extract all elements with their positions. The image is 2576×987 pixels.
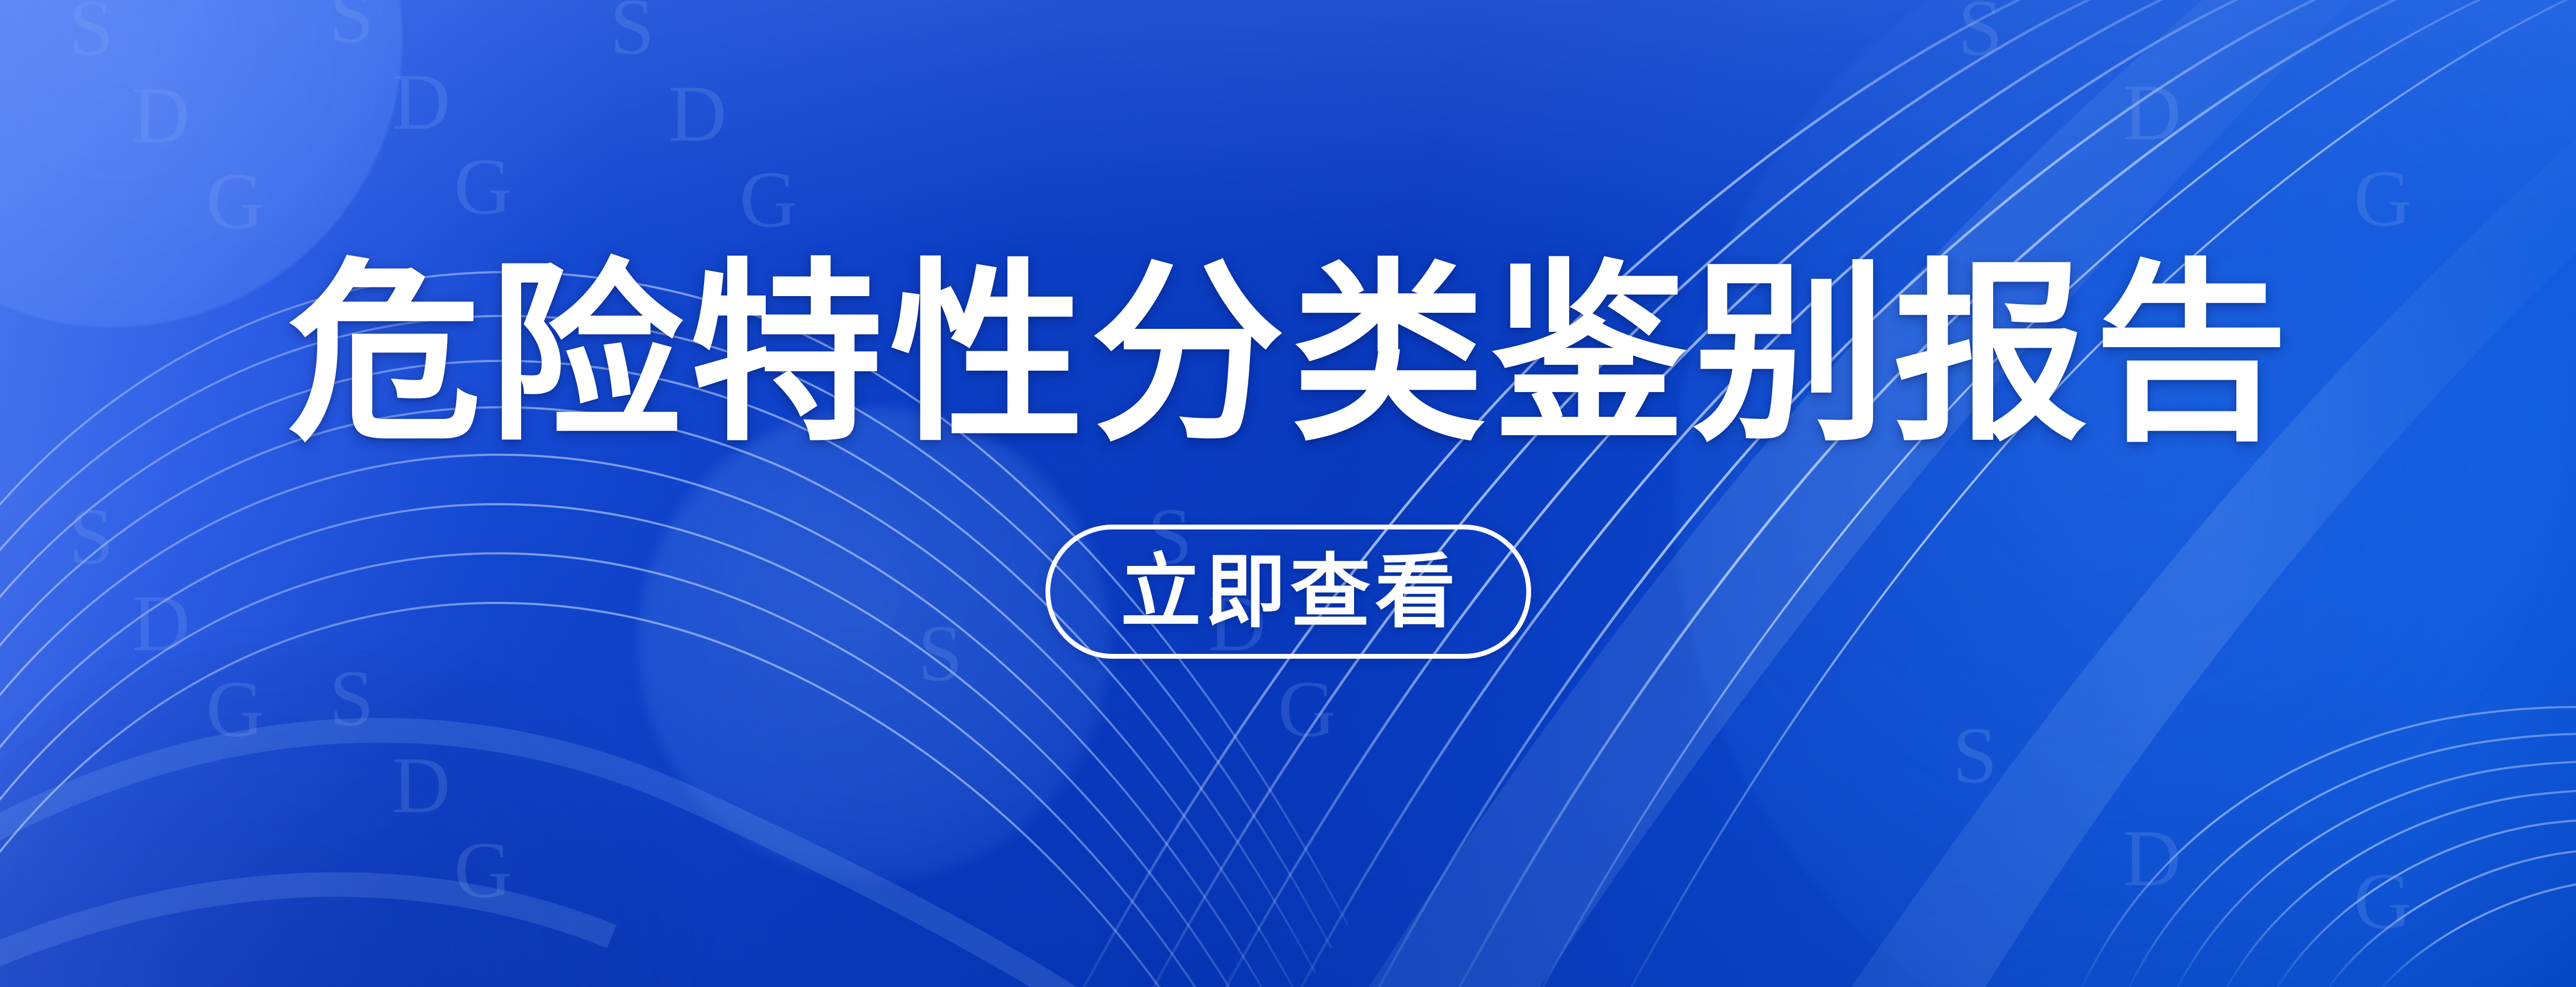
banner-content: 危险特性分类鉴别报告 立即查看 [0, 0, 2576, 987]
page-title: 危险特性分类鉴别报告 [281, 257, 2295, 452]
promo-banner: SDGSDGSDGSDGSDGSSDGSDGDGS 危险特性分类鉴别报告 立即查… [0, 0, 2576, 987]
view-now-button[interactable]: 立即查看 [1045, 525, 1531, 659]
view-now-button-label: 立即查看 [1116, 551, 1460, 632]
